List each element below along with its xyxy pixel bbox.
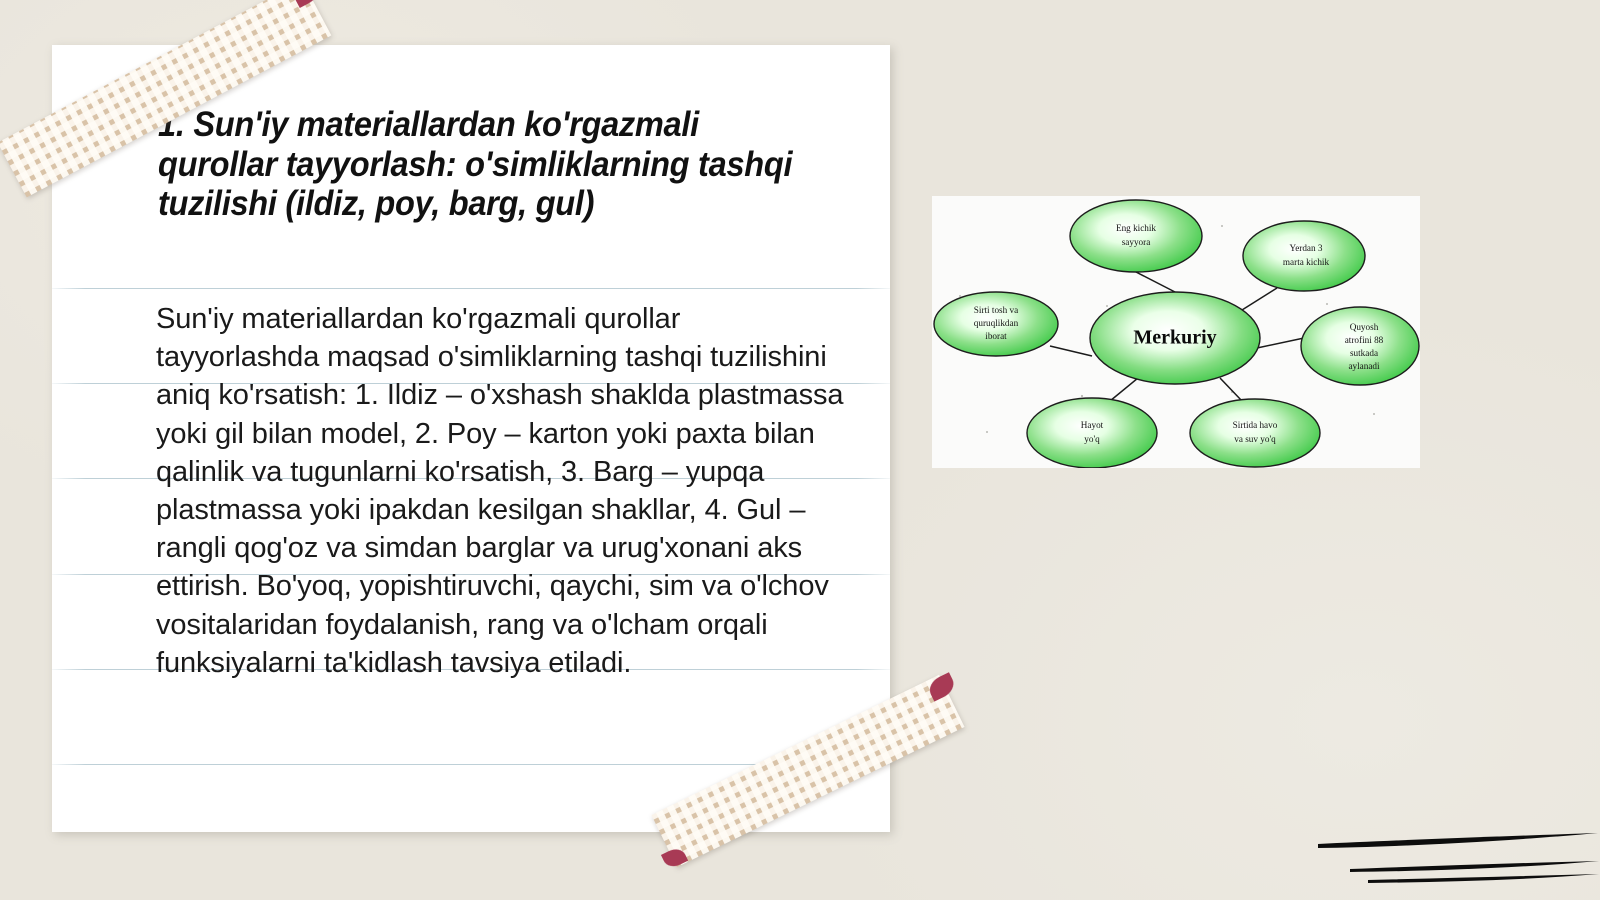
node-label-line: yo'q [1084,434,1100,444]
page-title: 1. Sun'iy materiallardan ko'rgazmali qur… [158,105,800,224]
mindmap-image-panel: Eng kichik sayyora Yerdan 3 marta kichik… [932,196,1420,468]
node-label-line: Hayot [1081,420,1104,430]
mindmap-node-sirtida-havo-va-suv-yoq[interactable]: Sirtida havo va suv yo'q [1190,399,1320,467]
node-label-line: iborat [985,331,1007,341]
paper-rule-line [52,288,890,289]
node-label-line: quruqlikdan [974,318,1019,328]
mindmap-node-hayot-yoq[interactable]: Hayot yo'q [1027,398,1157,468]
node-label-line: Eng kichik [1116,223,1156,233]
mindmap-center-node[interactable]: Merkuriy [1090,292,1260,384]
mindmap-node-yerdan-3-marta-kichik[interactable]: Yerdan 3 marta kichik [1243,221,1365,291]
lined-paper-card: 1. Sun'iy materiallardan ko'rgazmali qur… [52,45,890,832]
node-label-line: sutkada [1350,348,1378,358]
mindmap-diagram: Eng kichik sayyora Yerdan 3 marta kichik… [932,196,1420,468]
mindmap-center-label: Merkuriy [1133,327,1216,349]
mindmap-node-sirti-tosh-va-quruqlikdan-iborat[interactable]: Sirti tosh va quruqlikdan iborat [934,292,1058,356]
decorative-line-strokes-icon [1310,820,1600,890]
node-label-line: Yerdan 3 [1289,243,1322,253]
body-paragraph: Sun'iy materiallardan ko'rgazmali quroll… [156,300,846,682]
node-label-line: Sirti tosh va [974,305,1018,315]
mindmap-node-quyosh-atrofini-88-sutkada-aylanadi[interactable]: Quyosh atrofini 88 sutkada aylanadi [1301,307,1419,385]
node-label-line: marta kichik [1283,257,1330,267]
node-label-line: va suv yo'q [1234,434,1276,444]
slide-canvas: 1. Sun'iy materiallardan ko'rgazmali qur… [0,0,1600,900]
node-label-line: sayyora [1122,237,1151,247]
node-label-line: Sirtida havo [1233,420,1278,430]
node-label-line: aylanadi [1348,361,1380,371]
node-label-line: Quyosh [1350,322,1379,332]
node-label-line: atrofini 88 [1345,335,1384,345]
mindmap-node-eng-kichik-sayyora[interactable]: Eng kichik sayyora [1070,200,1202,272]
